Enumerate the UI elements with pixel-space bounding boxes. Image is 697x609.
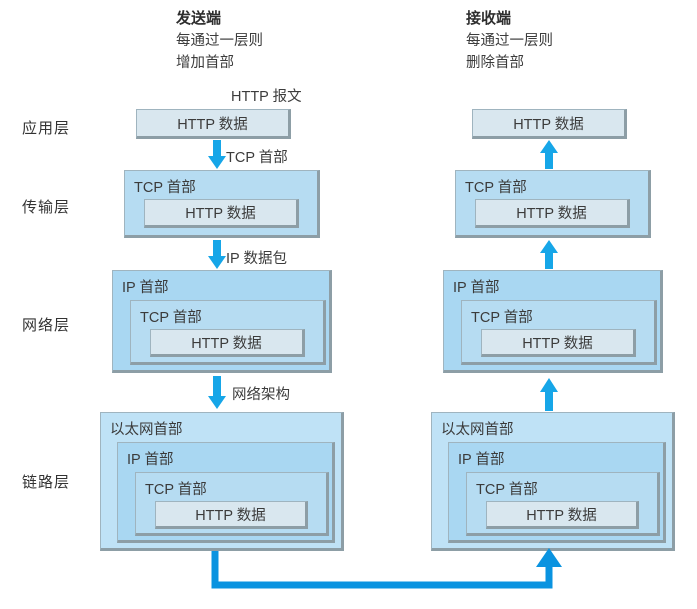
diagram-canvas: 发送端 每通过一层则 增加首部 接收端 每通过一层则 删除首部 应用层 传输层 … — [0, 0, 697, 609]
physical-link-connector — [0, 0, 697, 609]
